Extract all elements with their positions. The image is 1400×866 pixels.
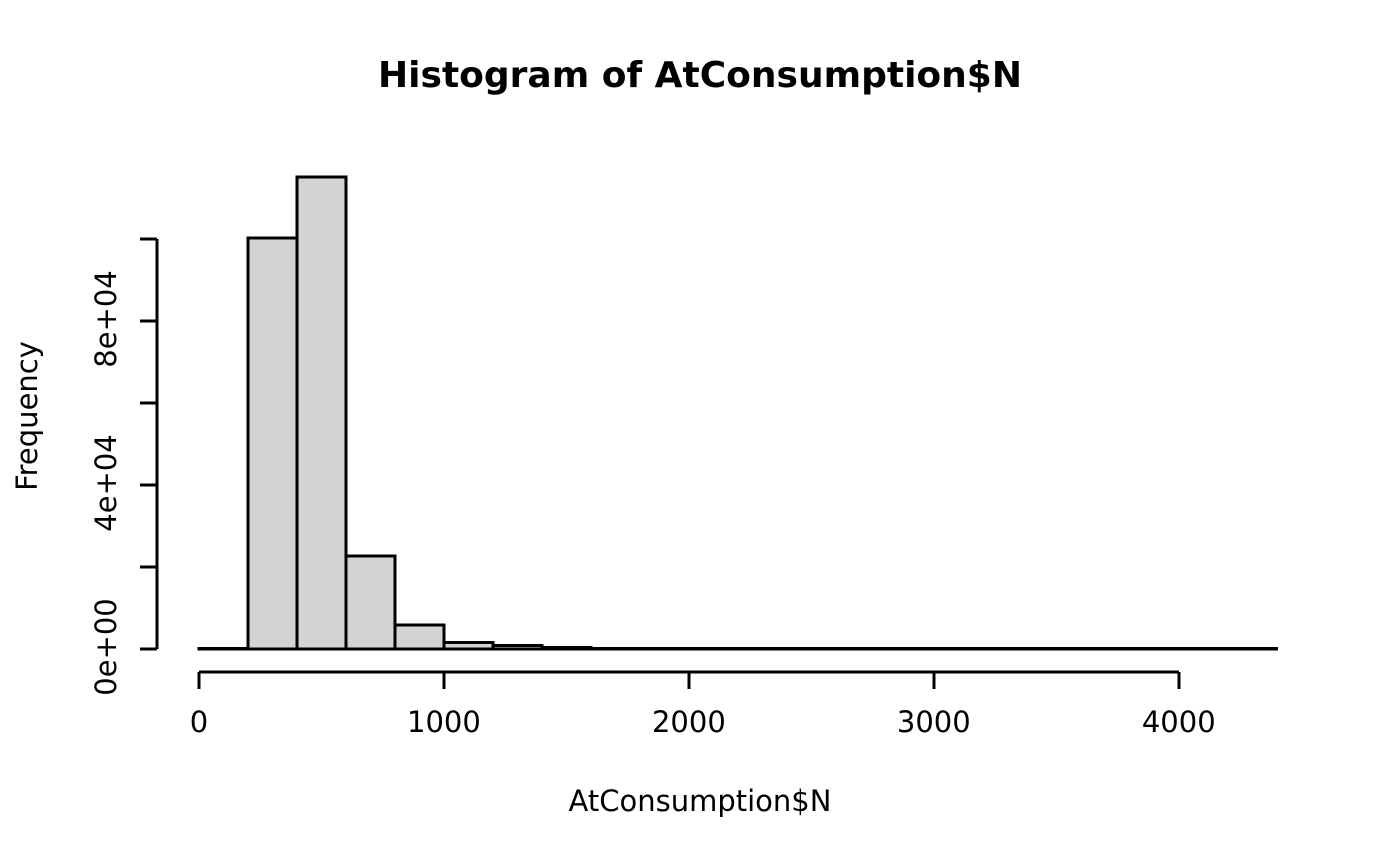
y-axis-tick-label: 8e+04 <box>89 254 123 384</box>
histogram-bar <box>346 556 395 649</box>
x-axis-tick-label: 3000 <box>864 705 1004 739</box>
histogram-bar <box>248 238 297 649</box>
histogram-bar <box>297 177 346 649</box>
x-axis-tick-label: 2000 <box>619 705 759 739</box>
y-axis-tick-label: 0e+00 <box>89 582 123 712</box>
histogram-plot: Histogram of AtConsumption$N Frequency A… <box>0 0 1400 866</box>
x-axis <box>199 672 1179 689</box>
x-axis-tick-label: 0 <box>129 705 269 739</box>
y-axis <box>140 239 157 649</box>
histogram-bar <box>395 625 444 649</box>
x-axis-tick-label: 1000 <box>374 705 514 739</box>
histogram-bars <box>199 177 1277 649</box>
y-axis-tick-label: 4e+04 <box>89 418 123 548</box>
x-axis-tick-label: 4000 <box>1109 705 1249 739</box>
